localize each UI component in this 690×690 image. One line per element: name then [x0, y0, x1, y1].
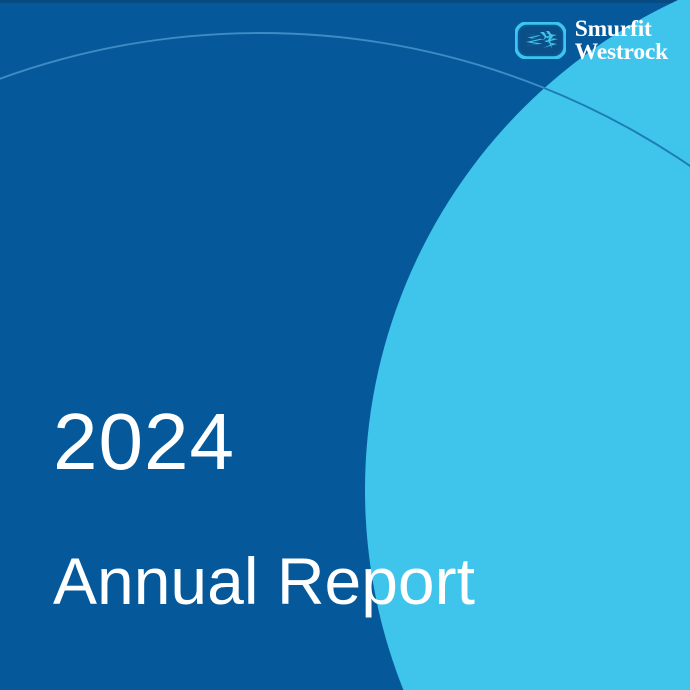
cover-title-block: 2024 Annual Report — [53, 402, 475, 614]
brand-logo-lockup: Smurfit Westrock — [515, 18, 668, 63]
logo-mark-inner-field — [519, 27, 561, 55]
top-edge-band — [0, 0, 690, 3]
brand-wordmark-line-2: Westrock — [575, 41, 668, 64]
brand-wordmark-line-1: Smurfit — [575, 18, 668, 41]
cover-subtitle: Annual Report — [53, 548, 475, 614]
smurfit-westrock-logo-mark — [515, 22, 566, 59]
annual-report-cover: Smurfit Westrock 2024 Annual Report — [0, 0, 690, 690]
brand-wordmark: Smurfit Westrock — [575, 18, 668, 63]
cover-year: 2024 — [53, 402, 475, 482]
